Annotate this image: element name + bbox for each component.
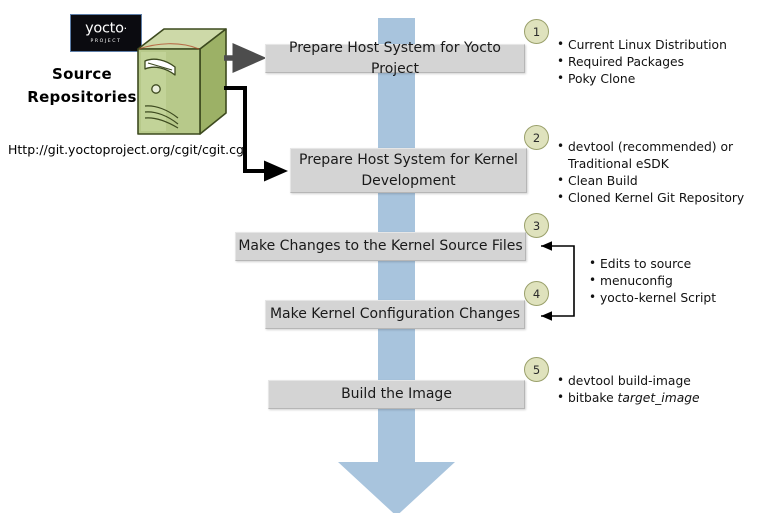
- list-item: menuconfig: [600, 273, 716, 290]
- step-5-box-label: Build the Image: [341, 384, 452, 405]
- main-flow-arrow: [330, 18, 475, 513]
- step-2-notes-list: devtool (recommended) or Traditional eSD…: [554, 139, 744, 207]
- list-item-text: devtool build-image: [568, 374, 691, 388]
- step-5-notes-list: devtool build-image bitbake target_image: [554, 373, 700, 407]
- step-2-box[interactable]: Prepare Host System for Kernel Developme…: [290, 148, 527, 193]
- source-label-line-2: Repositories: [20, 86, 144, 109]
- step-1-box-label: Prepare Host System for Yocto Project: [266, 38, 524, 80]
- step-5-notes: devtool build-image bitbake target_image: [554, 373, 700, 407]
- step-number-1-text: 1: [533, 25, 540, 39]
- server-tower-icon: [136, 27, 228, 140]
- step-number-2-text: 2: [533, 131, 540, 145]
- step-number-3-text: 3: [533, 219, 540, 233]
- list-item: Required Packages: [568, 54, 727, 71]
- step-2-box-label: Prepare Host System for Kernel Developme…: [291, 150, 526, 192]
- step-3-box[interactable]: Make Changes to the Kernel Source Files: [235, 232, 526, 261]
- step-number-1: 1: [524, 19, 549, 44]
- steps-3-4-notes: Edits to source menuconfig yocto-kernel …: [586, 256, 716, 307]
- list-item: Current Linux Distribution: [568, 37, 727, 54]
- list-item: Edits to source: [600, 256, 716, 273]
- list-item-text: bitbake: [568, 391, 618, 405]
- source-repositories-label: Source Repositories: [20, 63, 144, 109]
- step-1-box[interactable]: Prepare Host System for Yocto Project: [265, 44, 525, 73]
- list-item: Clean Build: [568, 173, 744, 190]
- step-4-box-label: Make Kernel Configuration Changes: [270, 304, 520, 325]
- steps-3-4-notes-list: Edits to source menuconfig yocto-kernel …: [586, 256, 716, 307]
- diagram-canvas: yocto· PROJECT Source Repositories Http:…: [0, 0, 769, 517]
- list-item: Cloned Kernel Git Repository: [568, 190, 744, 207]
- list-item: devtool (recommended) or: [568, 139, 744, 156]
- step-3-box-label: Make Changes to the Kernel Source Files: [238, 236, 522, 257]
- logo-wordmark: yocto·: [85, 21, 127, 37]
- step-5-box[interactable]: Build the Image: [268, 380, 525, 409]
- list-item: devtool build-image: [568, 373, 700, 390]
- step-number-3: 3: [524, 213, 549, 238]
- list-item-emphasis: target_image: [618, 391, 700, 405]
- step-number-5-text: 5: [533, 363, 540, 377]
- bracket-steps-3-4: [541, 246, 574, 316]
- list-item: bitbake target_image: [568, 390, 700, 407]
- list-item-continuation: Traditional eSDK: [568, 156, 744, 173]
- logo-wordmark-text: yocto: [85, 21, 123, 37]
- step-number-4-text: 4: [533, 287, 540, 301]
- step-number-4: 4: [524, 281, 549, 306]
- list-item: Poky Clone: [568, 71, 727, 88]
- arrow-source-to-step2: [224, 88, 282, 171]
- logo-subtitle: PROJECT: [90, 38, 121, 45]
- step-number-5: 5: [524, 357, 549, 382]
- yocto-project-logo: yocto· PROJECT: [70, 14, 142, 52]
- step-2-notes: devtool (recommended) or Traditional eSD…: [554, 139, 744, 207]
- list-item: yocto-kernel Script: [600, 290, 716, 307]
- step-1-notes: Current Linux Distribution Required Pack…: [554, 37, 727, 88]
- step-4-box[interactable]: Make Kernel Configuration Changes: [265, 300, 525, 329]
- source-repository-url: Http://git.yoctoproject.org/cgit/cgit.cg…: [8, 142, 247, 157]
- logo-dot: ·: [124, 22, 127, 35]
- step-number-2: 2: [524, 125, 549, 150]
- arrowhead-to-step4: [541, 311, 552, 321]
- source-label-line-1: Source: [20, 63, 144, 86]
- step-1-notes-list: Current Linux Distribution Required Pack…: [554, 37, 727, 88]
- arrowhead-to-step3: [541, 241, 552, 251]
